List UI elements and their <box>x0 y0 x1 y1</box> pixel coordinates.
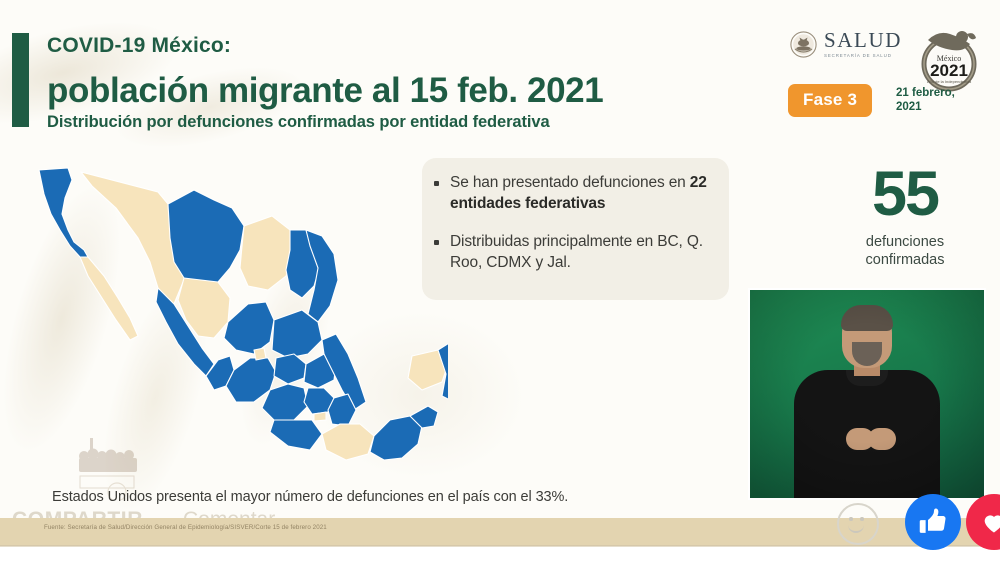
bullet-dot-icon <box>434 240 439 245</box>
date-line-1: 21 febrero, <box>896 86 972 100</box>
page-title: población migrante al 15 feb. 2021 <box>47 71 727 110</box>
header-eyebrow: COVID-19 México: <box>47 34 727 57</box>
state-guerrero <box>270 420 322 450</box>
metric-label: defunciones confirmadas <box>820 233 990 270</box>
metric-label-line-2: confirmadas <box>820 251 990 270</box>
thumbs-up-icon <box>918 507 948 537</box>
date-line-2: 2021 <box>896 100 972 114</box>
mexico-choropleth-map <box>18 158 448 498</box>
bullet-text: Distribuidas principalmente en BC, Q. Ro… <box>450 231 711 274</box>
state-chihuahua <box>168 190 244 286</box>
ministry-tagline: SECRETARÍA DE SALUD <box>824 54 902 58</box>
smiley-reaction-icon[interactable] <box>837 503 879 545</box>
header-subtitle: Distribución por defunciones confirmadas… <box>47 113 727 132</box>
metric-panel: 55 defunciones confirmadas <box>820 165 990 270</box>
sign-language-interpreter-video[interactable] <box>748 288 986 500</box>
emblem-year: 2021 <box>930 61 968 80</box>
emblem-caption: Año de la Independencia <box>927 79 972 84</box>
phase-badge: Fase 3 <box>788 84 872 117</box>
metric-value: 55 <box>820 165 990 225</box>
state-guanajuato <box>274 354 306 384</box>
smiley-mouth <box>848 522 864 533</box>
source-text: Fuente: Secretaría de Salud/Dirección Ge… <box>44 524 327 531</box>
title-accent-bar <box>12 33 29 127</box>
smiley-eye-left <box>849 517 853 521</box>
state-coahuila <box>240 216 294 290</box>
presentation-slide: COVID-19 México: población migrante al 1… <box>0 0 1000 563</box>
slide-header: COVID-19 México: población migrante al 1… <box>47 34 727 132</box>
mexico-2021-emblem: México 2021 Año de la Independencia <box>918 24 980 92</box>
state-aguascalientes <box>254 348 266 360</box>
bullet-1-prefix: Se han presentado defunciones en <box>450 174 690 191</box>
metric-label-line-1: defunciones <box>820 233 990 252</box>
brand-cluster: SALUD SECRETARÍA DE SALUD México 2021 Añ… <box>786 24 986 134</box>
list-item: Distribuidas principalmente en BC, Q. Ro… <box>434 231 711 274</box>
info-card: Se han presentado defunciones en 22 enti… <box>422 158 729 300</box>
bullet-text: Se han presentado defunciones en 22 enti… <box>450 172 711 215</box>
mexican-eagle-seal-icon <box>790 31 817 58</box>
ministry-name: SALUD <box>824 30 902 51</box>
state-baja-california <box>39 168 88 257</box>
state-oaxaca <box>322 424 374 460</box>
state-tabasco-chiapas <box>370 416 422 460</box>
state-baja-california-sur <box>80 257 138 340</box>
slide-date: 21 febrero, 2021 <box>896 86 972 115</box>
map-svg <box>18 158 448 498</box>
map-caption: Estados Unidos presenta el mayor número … <box>52 489 568 505</box>
smiley-eye-right <box>860 517 864 521</box>
bottom-white-strip <box>0 547 1000 563</box>
bullet-dot-icon <box>434 181 439 186</box>
like-reaction-icon[interactable] <box>905 494 961 550</box>
video-vignette <box>750 290 984 498</box>
list-item: Se han presentado defunciones en 22 enti… <box>434 172 711 215</box>
state-zacatecas <box>224 302 274 354</box>
state-morelos <box>314 412 326 421</box>
heart-icon <box>980 508 1000 536</box>
salud-logo: SALUD SECRETARÍA DE SALUD <box>790 30 902 58</box>
